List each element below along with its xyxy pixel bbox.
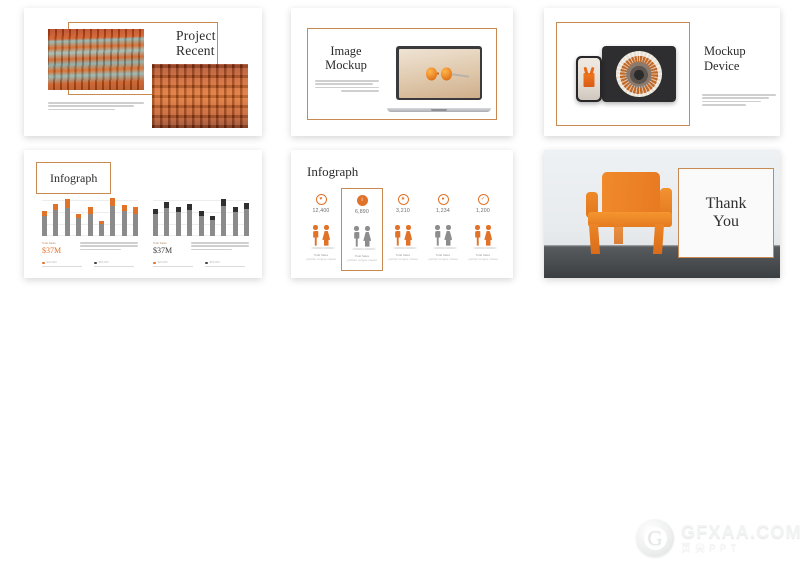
laptop-mockup bbox=[387, 46, 491, 112]
slide-title-line2: Device bbox=[704, 59, 776, 74]
people-caption: Total Sales porttitor congue massa bbox=[303, 253, 339, 261]
phone-screen-image bbox=[578, 58, 601, 101]
slide-thumbnail-infograph-people[interactable]: Infograph ♥ 12,400 Total Sales porttitor… bbox=[291, 150, 513, 278]
slide-title-line2: You bbox=[706, 213, 747, 231]
people-column[interactable]: ● 1,234 Total Sales porttitor congue mas… bbox=[423, 188, 463, 271]
auditorium-seats-image bbox=[48, 29, 144, 90]
slide-thumbnail-thank-you[interactable]: Thank You bbox=[544, 150, 780, 278]
people-value: 3,210 bbox=[385, 208, 421, 214]
people-caption: Total Sales porttitor congue massa bbox=[465, 253, 501, 261]
metric-label: Total Sales bbox=[153, 242, 185, 245]
people-value: 1,234 bbox=[425, 208, 461, 214]
slide-thumbnail-mockup-device[interactable]: Mockup Device bbox=[544, 8, 780, 136]
people-caption: Total Sales porttitor congue massa bbox=[385, 253, 421, 261]
slide-title: Infograph bbox=[50, 171, 97, 185]
legend-label: $50,000 bbox=[210, 261, 220, 265]
legend-label: $20,000 bbox=[158, 261, 168, 265]
people-caption: Total Sales porttitor congue massa bbox=[344, 254, 380, 262]
infograph-title-badge: Infograph bbox=[36, 162, 111, 194]
star-icon: ★ bbox=[398, 194, 409, 205]
people-icons bbox=[303, 219, 339, 249]
laptop-screen-image bbox=[399, 49, 480, 98]
watermark-sub-text: 页尖PPT bbox=[681, 543, 800, 554]
slide-thumbnail-infograph-charts[interactable]: Infograph bbox=[24, 150, 262, 278]
metric-value: $37M bbox=[153, 246, 185, 255]
slide-title-line1: Project bbox=[176, 28, 258, 43]
legend-item: $50,000 bbox=[205, 261, 249, 269]
chart-panel-1: Total Sales $37M $20,000 $80,000 bbox=[38, 200, 142, 269]
legend-item: $20,000 bbox=[42, 261, 86, 269]
slide-title-line2: Mockup bbox=[315, 58, 377, 72]
slide-title: Mockup Device bbox=[704, 44, 776, 74]
metric-value: $37M bbox=[42, 246, 74, 255]
thank-you-frame: Thank You bbox=[678, 168, 774, 258]
slide-title-line1: Image bbox=[315, 44, 377, 58]
people-value: 6,890 bbox=[344, 209, 380, 215]
slide-title-line1: Thank bbox=[706, 195, 747, 213]
people-icons bbox=[344, 220, 380, 250]
legend-item: $80,000 bbox=[94, 261, 138, 269]
people-icons bbox=[425, 219, 461, 249]
tablet-screen-image bbox=[606, 49, 672, 99]
slide-title: Thank You bbox=[706, 195, 747, 231]
slide-title: Project Recent bbox=[176, 28, 258, 58]
people-icons bbox=[465, 219, 501, 249]
chart-panel-2: Total Sales $37M $20,000 $50,000 bbox=[149, 200, 253, 269]
slide-thumbnail-image-mockup[interactable]: Image Mockup bbox=[291, 8, 513, 136]
panel-body-text bbox=[191, 242, 249, 255]
check-icon: ✓ bbox=[478, 194, 489, 205]
gfxaa-logo-icon: G bbox=[636, 519, 674, 557]
caption-body: porttitor congue massa bbox=[388, 257, 417, 261]
legend-label: $20,000 bbox=[47, 261, 57, 265]
preview-canvas: Project Recent Image Mockup bbox=[0, 0, 800, 572]
cloud-icon: ● bbox=[438, 194, 449, 205]
people-column[interactable]: ★ 3,210 Total Sales porttitor congue mas… bbox=[383, 188, 423, 271]
watermark: G GFXAA.COM 页尖PPT bbox=[636, 512, 788, 564]
people-column[interactable]: ✓ 1,200 Total Sales porttitor congue mas… bbox=[463, 188, 503, 271]
people-icons bbox=[385, 219, 421, 249]
slide-body-text bbox=[48, 102, 144, 112]
legend-dot-icon bbox=[42, 262, 45, 265]
phone-mockup bbox=[576, 56, 602, 102]
slide-body-text bbox=[315, 80, 379, 94]
chart-legend-2: $20,000 $50,000 bbox=[149, 255, 253, 269]
bar-chart-1 bbox=[42, 200, 138, 236]
slide-body-text bbox=[702, 94, 776, 108]
legend-label: $80,000 bbox=[99, 261, 109, 265]
stadium-seats-image bbox=[152, 64, 248, 128]
caption-body: porttitor congue massa bbox=[468, 257, 497, 261]
logo-letter: G bbox=[636, 519, 674, 557]
legend-dot-icon bbox=[153, 262, 156, 265]
caption-body: porttitor congue massa bbox=[347, 258, 376, 262]
people-value: 12,400 bbox=[303, 208, 339, 214]
bar-chart-2 bbox=[153, 200, 249, 236]
slide-title-line2: Recent bbox=[176, 43, 258, 58]
people-columns: ♥ 12,400 Total Sales porttitor congue ma… bbox=[301, 188, 503, 271]
chart-legend-1: $20,000 $80,000 bbox=[38, 255, 142, 269]
people-caption: Total Sales porttitor congue massa bbox=[425, 253, 461, 261]
legend-dot-icon bbox=[205, 262, 208, 265]
panel-body-text bbox=[80, 242, 138, 255]
caption-body: porttitor congue massa bbox=[306, 257, 335, 261]
legend-dot-icon bbox=[94, 262, 97, 265]
metric-label: Total Sales bbox=[42, 242, 74, 245]
slide-title: Image Mockup bbox=[315, 44, 377, 72]
people-column[interactable]: ♥ 12,400 Total Sales porttitor congue ma… bbox=[301, 188, 341, 271]
watermark-main-text: GFXAA.COM bbox=[681, 523, 800, 542]
info-icon: i bbox=[357, 195, 368, 206]
heart-icon: ♥ bbox=[316, 194, 327, 205]
legend-item: $20,000 bbox=[153, 261, 197, 269]
slide-thumbnail-project-recent[interactable]: Project Recent bbox=[24, 8, 262, 136]
people-column-selected[interactable]: i 6,890 Total Sales porttitor congue mas… bbox=[341, 188, 383, 271]
slide-title: Infograph bbox=[307, 164, 358, 180]
slide-title-line1: Mockup bbox=[704, 44, 776, 59]
tablet-mockup bbox=[602, 46, 676, 102]
caption-body: porttitor congue massa bbox=[428, 257, 457, 261]
orange-armchair-image bbox=[580, 172, 676, 256]
people-value: 1,200 bbox=[465, 208, 501, 214]
